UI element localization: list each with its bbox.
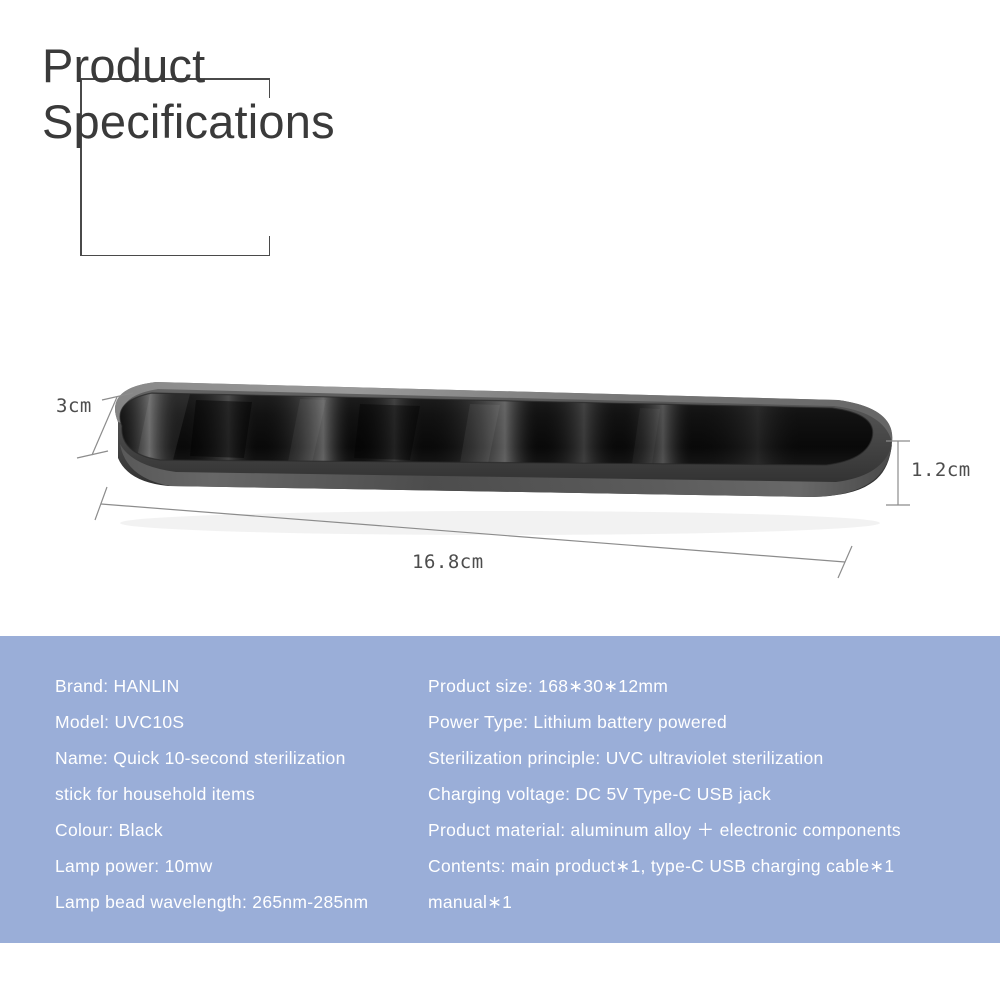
spec-line: Model: UVC10S [55,704,425,740]
page-title-line-1: Product [42,38,562,94]
product-shadow [120,511,880,535]
dimension-label-width: 3cm [56,395,92,417]
spec-line: Name: Quick 10-second sterilization [55,740,425,776]
frame-bottom-edge [80,255,270,257]
spec-line: stick for household items [55,776,425,812]
spec-line: manual∗1 [428,884,988,920]
page-title-line-2: Specifications [42,94,562,150]
spec-line: Charging voltage: DC 5V Type-C USB jack [428,776,988,812]
spec-line: Product size: 168∗30∗12mm [428,668,988,704]
dimension-label-length: 16.8cm [412,551,484,573]
page-title: Product Specifications [42,38,562,150]
spec-line: Product material: aluminum alloy ＋ elect… [428,812,988,848]
spec-line: Power Type: Lithium battery powered [428,704,988,740]
product-image [0,360,1000,600]
spec-column-right: Product size: 168∗30∗12mm Power Type: Li… [428,668,988,920]
specifications-panel: Brand: HANLIN Model: UVC10S Name: Quick … [0,636,1000,943]
spec-line: Brand: HANLIN [55,668,425,704]
spec-line: Contents: main product∗1, type-C USB cha… [428,848,988,884]
spec-line: Lamp bead wavelength: 265nm-285nm [55,884,425,920]
spec-line: Sterilization principle: UVC ultraviolet… [428,740,988,776]
spec-line: Colour: Black [55,812,425,848]
dimension-label-thickness: 1.2cm [911,459,971,481]
spec-line: Lamp power: 10mw [55,848,425,884]
spec-column-left: Brand: HANLIN Model: UVC10S Name: Quick … [55,668,425,920]
frame-right-bottom-stub [269,236,271,256]
product-illustration-svg [0,360,1000,600]
